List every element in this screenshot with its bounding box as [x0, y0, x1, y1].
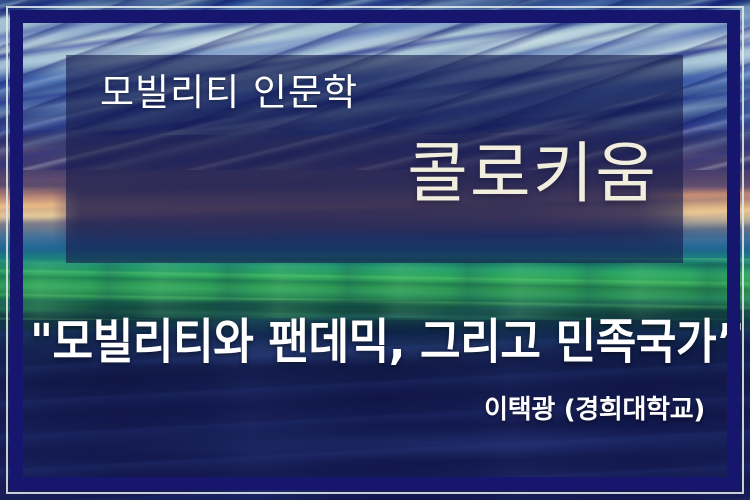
series-kicker: 모빌리티 인문학: [100, 74, 358, 111]
poster-canvas: 모빌리티 인문학 콜로키움 "모빌리티와 팬데믹, 그리고 민족국가” 이택광 …: [0, 0, 750, 500]
talk-subtitle: "모빌리티와 팬데믹, 그리고 민족국가”: [30, 318, 720, 366]
page-title: 콜로키움: [407, 141, 658, 207]
speaker-affiliation: 이택광 (경희대학교): [484, 397, 705, 423]
